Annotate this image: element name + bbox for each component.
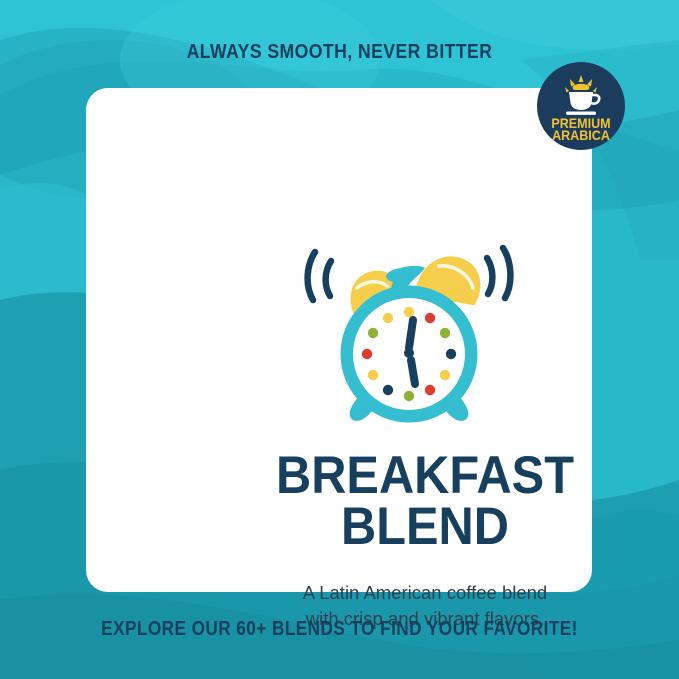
footer-cta-text: EXPLORE OUR 60+ BLENDS TO FIND YOUR FAVO…: [48, 618, 632, 641]
premium-arabica-badge: PREMIUM ARABICA: [537, 62, 625, 150]
poster-canvas: ALWAYS SMOOTH, NEVER BITTER: [0, 0, 679, 679]
product-card: BREAKFAST BLEND A Latin American coffee …: [86, 88, 592, 592]
headline-text: ALWAYS SMOOTH, NEVER BITTER: [48, 40, 632, 64]
motion-lines-right: [487, 248, 510, 298]
motion-lines-left: [308, 252, 331, 300]
product-description-line1: A Latin American coffee blend: [172, 580, 678, 606]
badge-label-line2: ARABICA: [552, 128, 610, 144]
product-title-line2: BLEND: [192, 501, 658, 552]
product-title: BREAKFAST BLEND: [192, 450, 658, 552]
alarm-clock-icon: [289, 230, 529, 430]
